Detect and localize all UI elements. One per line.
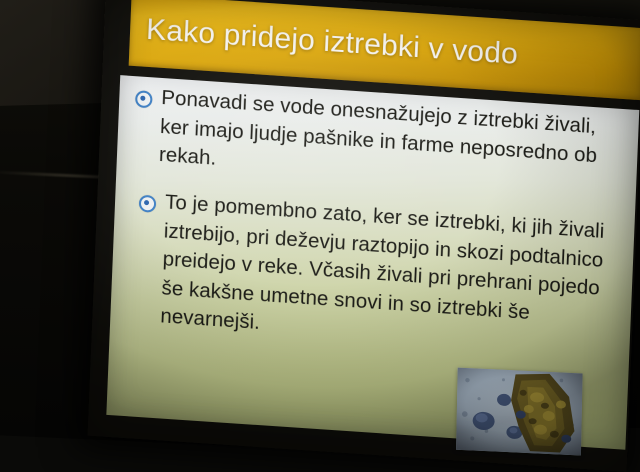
slide-body-panel: Ponavadi se vode onesnažujejo z iztrebki…: [106, 75, 639, 450]
projection-screen: Kako pridejo iztrebki v vodo Ponavadi se…: [87, 0, 640, 472]
bullet-marker-icon: [139, 195, 157, 213]
bullet-marker-icon: [135, 90, 153, 108]
slide-bullet-item: To je pomembno zato, ker se iztrebki, ki…: [134, 187, 625, 362]
slide-photo-droppings: [456, 368, 582, 456]
slide-bullet-text: To je pomembno zato, ker se iztrebki, ki…: [160, 188, 625, 361]
